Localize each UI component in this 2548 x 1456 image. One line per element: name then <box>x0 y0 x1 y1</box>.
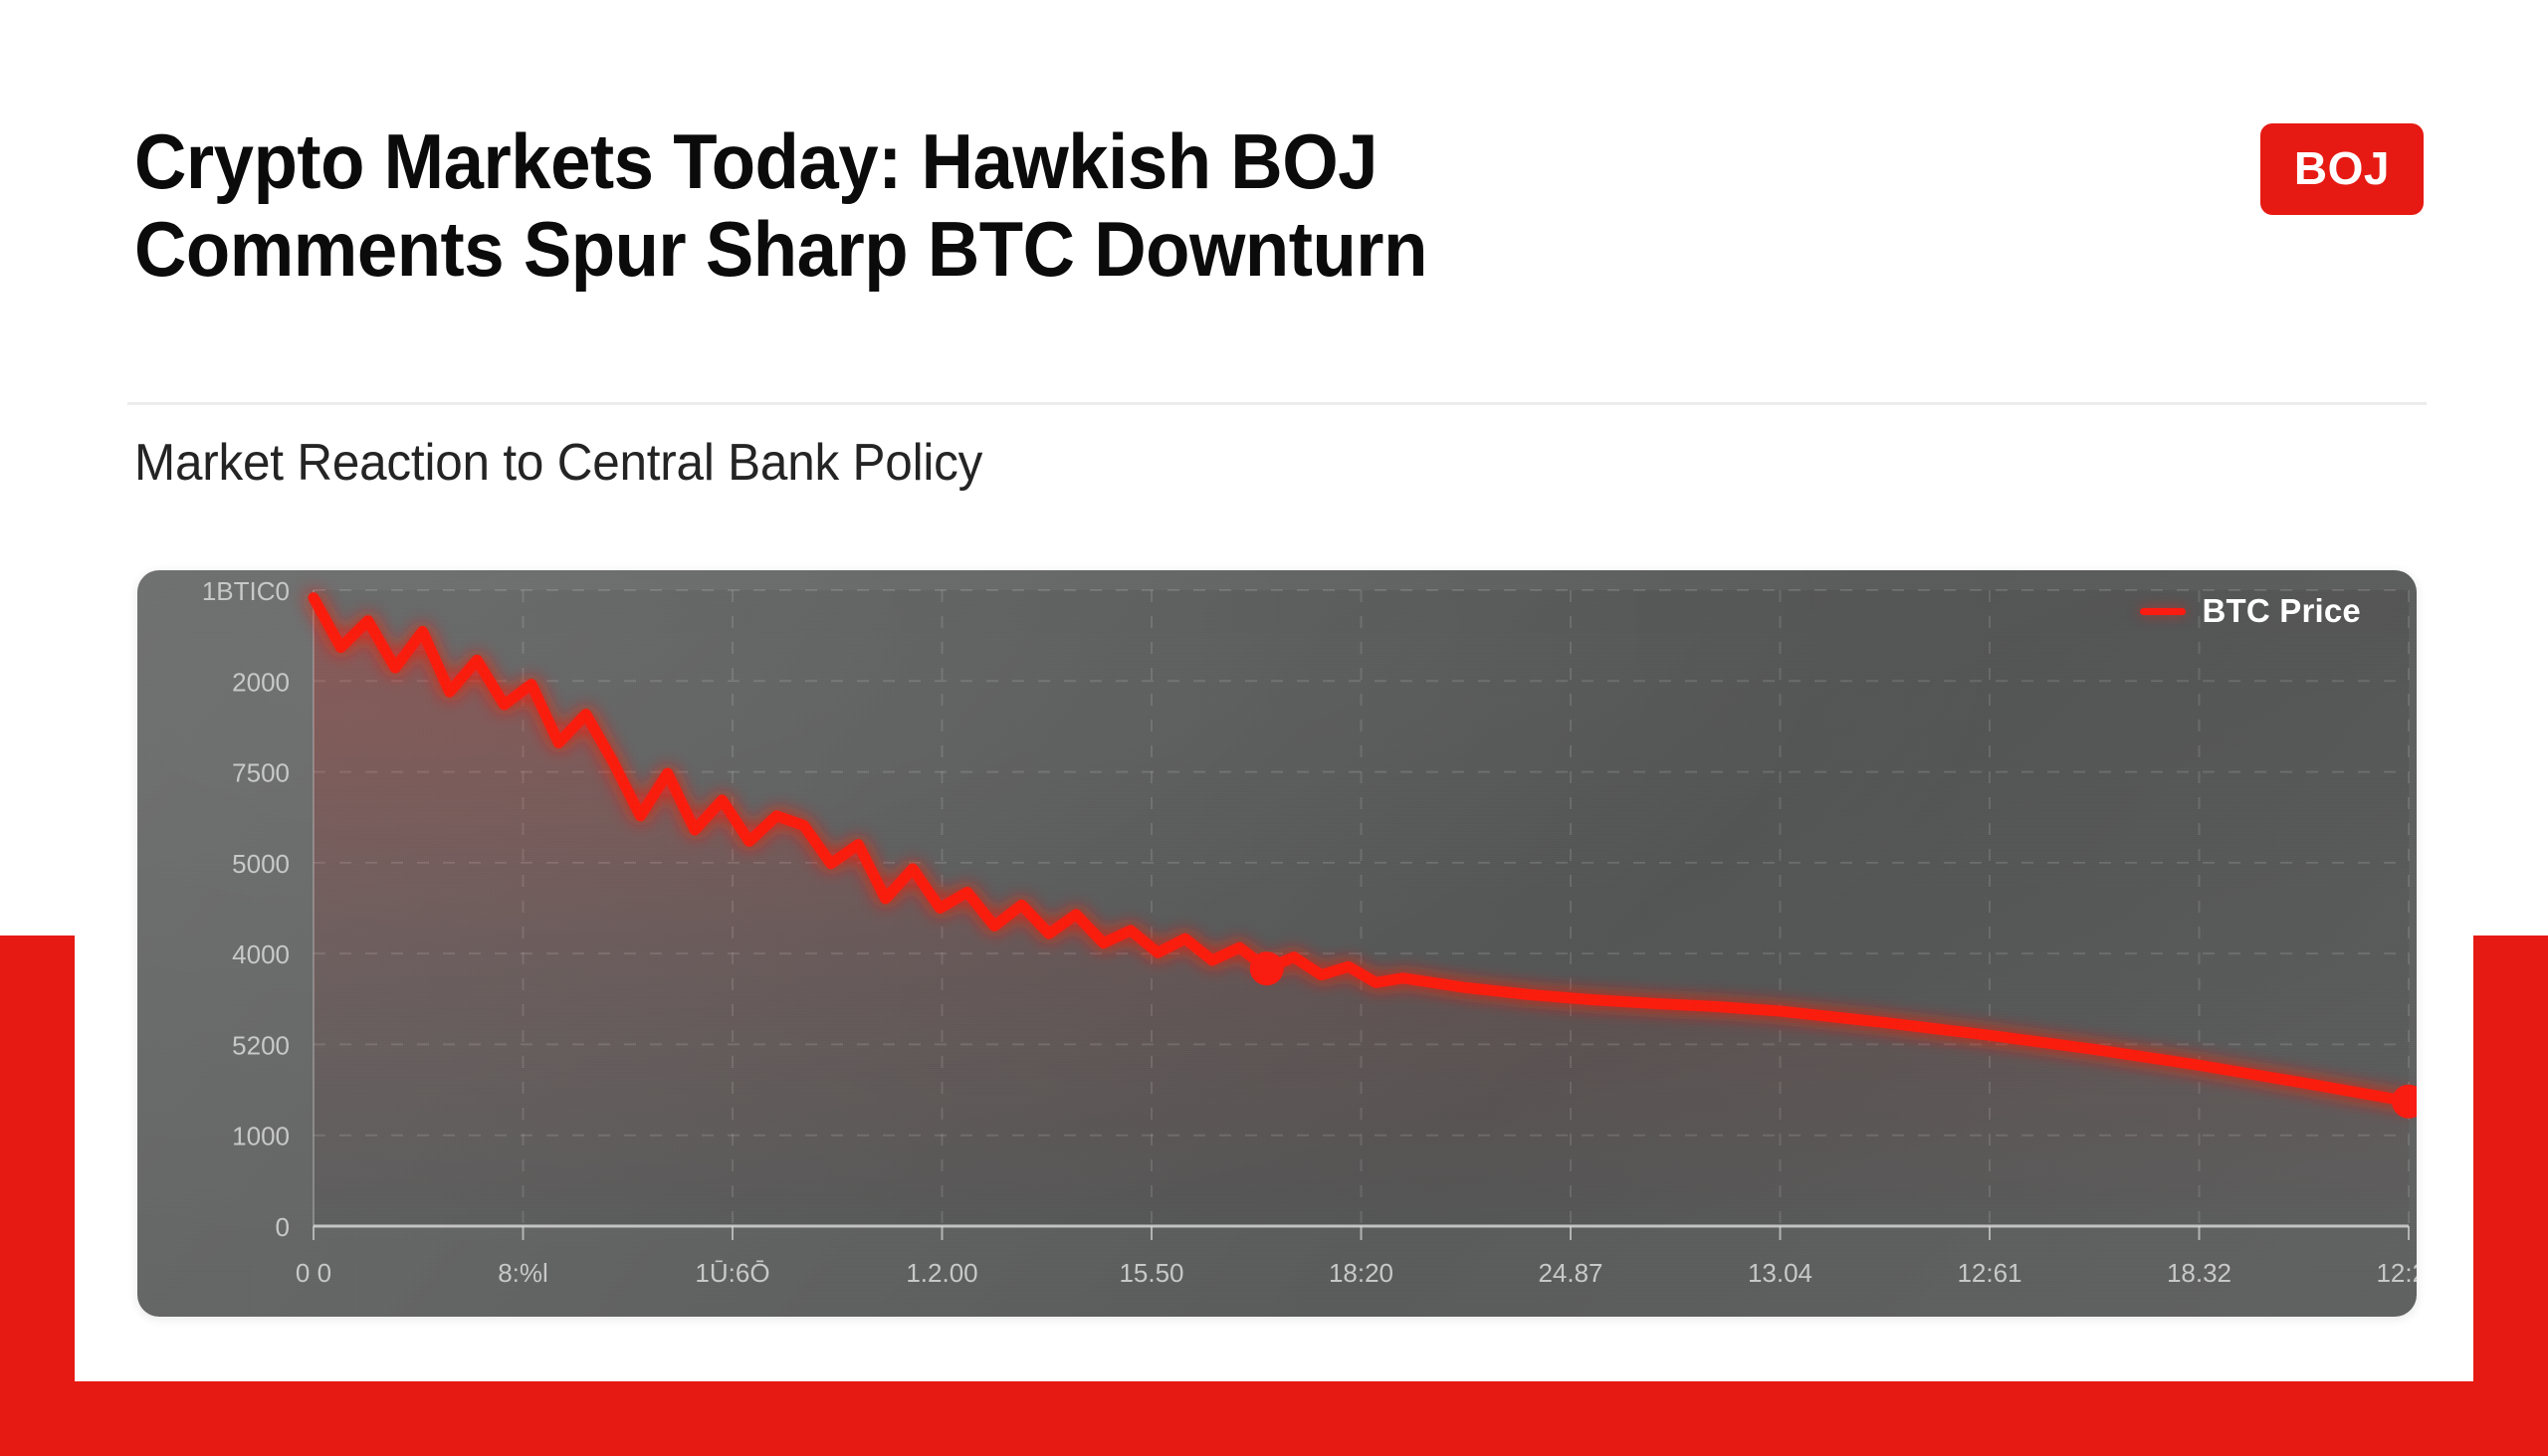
btc-price-line-chart: 1BTIC02000750050004000520010000 0 08:%l1… <box>137 570 2417 1317</box>
x-tick-label: 13.04 <box>1748 1258 1812 1288</box>
x-tick-label: 0 0 <box>296 1258 331 1288</box>
header: Crypto Markets Today: Hawkish BOJ Commen… <box>134 117 2424 293</box>
x-tick-label: 24.87 <box>1538 1258 1602 1288</box>
boj-logo: BOJ <box>2260 123 2424 215</box>
x-tick-label: 8:%l <box>498 1258 548 1288</box>
decor-red-block-right <box>2473 936 2548 1456</box>
x-axis-tick-labels: 0 08:%l1Ū:6Ō1.2.0015.5018:2024.8713.0412… <box>296 1258 2417 1288</box>
legend-line-swatch <box>2140 608 2186 615</box>
btc-price-chart-panel: 1BTIC02000750050004000520010000 0 08:%l1… <box>137 570 2417 1317</box>
header-divider <box>127 402 2427 405</box>
y-tick-label: 4000 <box>232 939 290 969</box>
y-tick-label: 2000 <box>232 667 290 697</box>
y-tick-label: 5000 <box>232 849 290 879</box>
x-tick-label: 18:20 <box>1329 1258 1393 1288</box>
chart-legend: BTC Price <box>2140 592 2361 630</box>
y-tick-label: 7500 <box>232 758 290 788</box>
x-tick-label: 12:61 <box>1957 1258 2021 1288</box>
x-tick-label: 1.2.00 <box>906 1258 977 1288</box>
y-tick-label: 5200 <box>232 1030 290 1060</box>
y-axis-tick-labels: 1BTIC02000750050004000520010000 <box>202 576 290 1242</box>
subtitle: Market Reaction to Central Bank Policy <box>134 433 982 493</box>
y-tick-label: 1BTIC0 <box>202 576 290 606</box>
decor-red-block-left <box>0 936 75 1456</box>
x-tick-label: 12:20 <box>2376 1258 2417 1288</box>
data-point-marker <box>1250 951 1284 985</box>
x-tick-label: 1Ū:6Ō <box>695 1258 769 1288</box>
y-tick-label: 1000 <box>232 1122 290 1151</box>
y-tick-label: 0 <box>276 1212 290 1242</box>
x-tick-label: 15.50 <box>1119 1258 1183 1288</box>
decor-red-band-bottom <box>0 1381 2548 1456</box>
title-block: Crypto Markets Today: Hawkish BOJ Commen… <box>134 117 1525 293</box>
x-tick-label: 18.32 <box>2167 1258 2231 1288</box>
poster-canvas: Crypto Markets Today: Hawkish BOJ Commen… <box>0 0 2548 1456</box>
page-title: Crypto Markets Today: Hawkish BOJ Commen… <box>134 117 1427 293</box>
legend-label: BTC Price <box>2202 592 2361 630</box>
